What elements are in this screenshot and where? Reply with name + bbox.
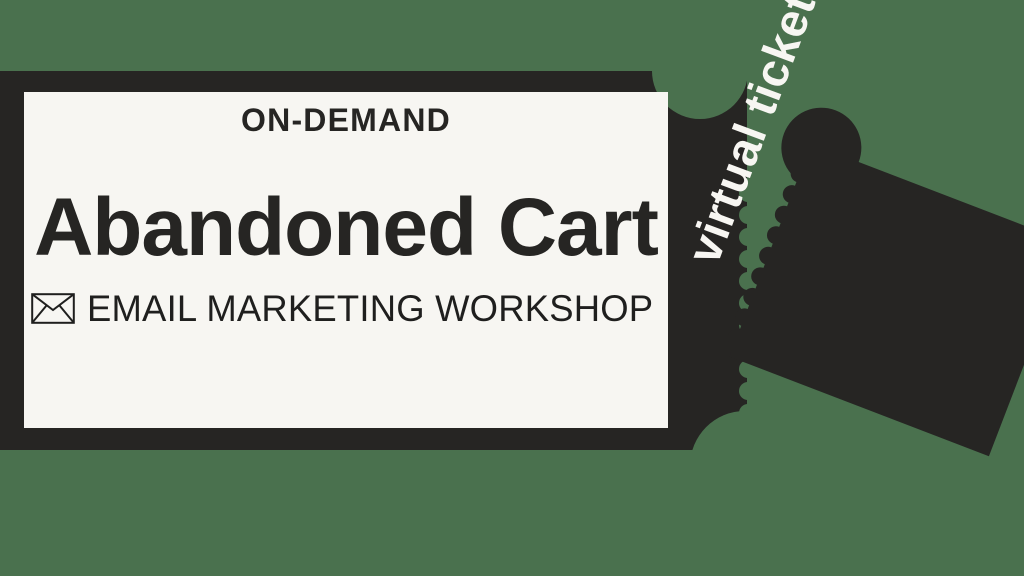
ticket-graphic: ON-DEMAND Abandoned Cart EMAIL MARKETING… — [0, 0, 1024, 576]
ticket-stub-shape — [0, 0, 1024, 576]
